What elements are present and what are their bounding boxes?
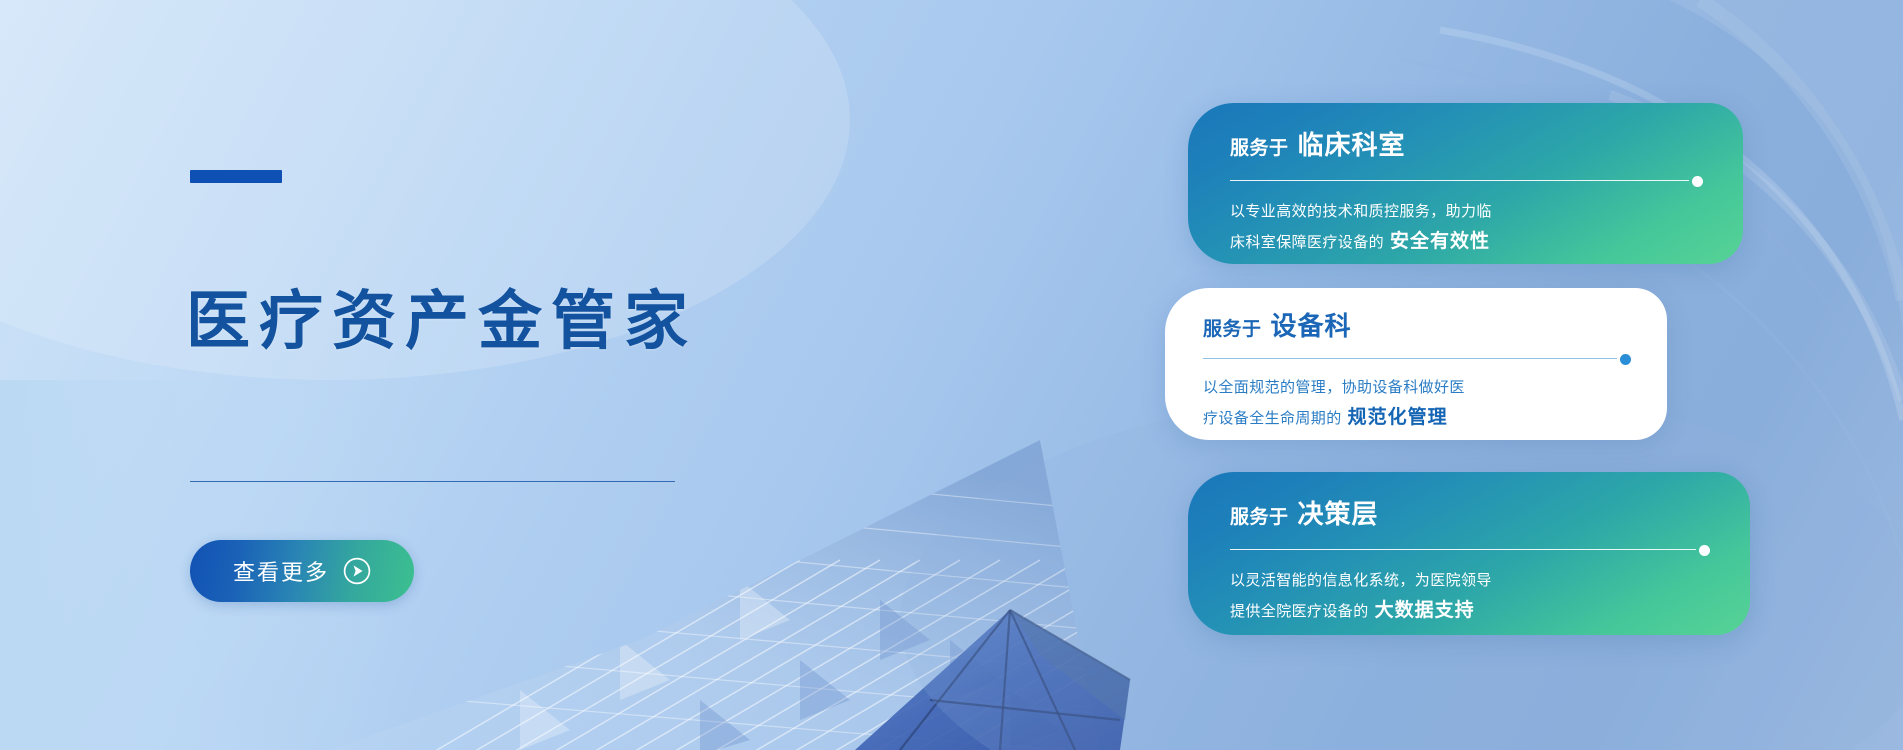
card-clinical-body-line1: 以专业高效的技术和质控服务，助力临: [1230, 199, 1703, 225]
card-clinical-body: 以专业高效的技术和质控服务，助力临 床科室保障医疗设备的安全有效性: [1230, 199, 1703, 257]
card-decision[interactable]: 服务于 决策层 以灵活智能的信息化系统，为医院领导 提供全院医疗设备的大数据支持: [1188, 472, 1750, 635]
divider-dot-icon: [1699, 545, 1710, 556]
divider-line: [1230, 180, 1689, 181]
divider-line: [1203, 358, 1617, 359]
card-decision-focus: 决策层: [1298, 502, 1379, 528]
card-decision-body: 以灵活智能的信息化系统，为医院领导 提供全院医疗设备的大数据支持: [1230, 568, 1710, 626]
card-clinical[interactable]: 服务于 临床科室 以专业高效的技术和质控服务，助力临 床科室保障医疗设备的安全有…: [1188, 103, 1743, 264]
card-clinical-kicker: 服务于: [1230, 139, 1289, 158]
card-equipment-body-line2: 疗设备全生命周期的规范化管理: [1203, 401, 1631, 434]
card-equipment-kicker: 服务于: [1203, 320, 1262, 339]
divider-dot-icon: [1620, 354, 1631, 365]
hero-banner: 医疗资产金管家 查看更多 服务于 临床科室 以专业: [0, 0, 1903, 750]
card-clinical-focus: 临床科室: [1298, 133, 1406, 159]
card-equipment-body: 以全面规范的管理，协助设备科做好医 疗设备全生命周期的规范化管理: [1203, 375, 1631, 433]
card-clinical-emphasis: 安全有效性: [1384, 230, 1490, 252]
card-equipment-title: 服务于 设备科: [1203, 314, 1631, 340]
divider-dot-icon: [1692, 176, 1703, 187]
card-decision-body-line1: 以灵活智能的信息化系统，为医院领导: [1230, 568, 1710, 594]
card-equipment-divider: [1203, 354, 1631, 363]
card-decision-title: 服务于 决策层: [1230, 502, 1710, 528]
card-clinical-body-line2: 床科室保障医疗设备的安全有效性: [1230, 225, 1703, 258]
card-decision-kicker: 服务于: [1230, 508, 1289, 527]
card-decision-body-line2: 提供全院医疗设备的大数据支持: [1230, 594, 1710, 627]
card-decision-emphasis: 大数据支持: [1369, 599, 1475, 621]
card-equipment-emphasis: 规范化管理: [1342, 406, 1448, 428]
divider-line: [1230, 549, 1696, 550]
card-equipment[interactable]: 服务于 设备科 以全面规范的管理，协助设备科做好医 疗设备全生命周期的规范化管理: [1165, 288, 1667, 440]
card-equipment-focus: 设备科: [1271, 314, 1352, 340]
card-equipment-body-line2-prefix: 疗设备全生命周期的: [1203, 409, 1342, 427]
card-clinical-body-line2-prefix: 床科室保障医疗设备的: [1230, 233, 1384, 251]
service-cards: 服务于 临床科室 以专业高效的技术和质控服务，助力临 床科室保障医疗设备的安全有…: [0, 0, 1903, 750]
card-equipment-body-line1: 以全面规范的管理，协助设备科做好医: [1203, 375, 1631, 401]
card-clinical-title: 服务于 临床科室: [1230, 133, 1703, 159]
card-decision-divider: [1230, 545, 1710, 554]
card-clinical-divider: [1230, 176, 1703, 185]
card-decision-body-line2-prefix: 提供全院医疗设备的: [1230, 602, 1369, 620]
